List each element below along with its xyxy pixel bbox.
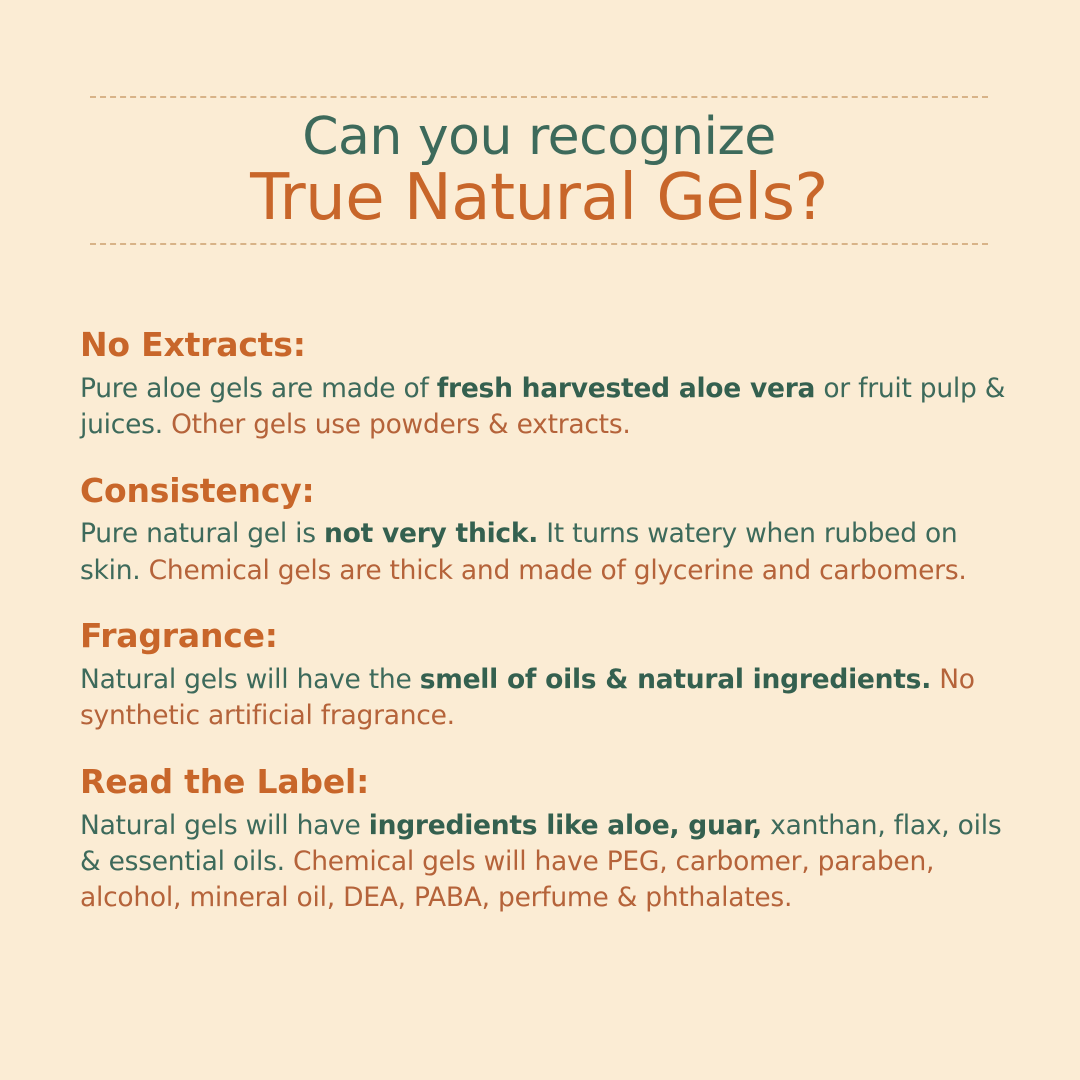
text-segment: Pure natural gel is [80,518,324,549]
text-segment: ingredients like aloe, guar, [369,810,762,841]
text-segment: not very thick. [324,518,538,549]
text-segment: Natural gels will have [80,810,369,841]
page-title: Can you recognize True Natural Gels? [90,98,988,243]
section-body-read-the-label: Natural gels will have ingredients like … [80,808,1010,917]
text-segment: Other gels use powders & extracts. [171,409,631,440]
header: Can you recognize True Natural Gels? [90,96,988,245]
section-heading-consistency: Consistency: [80,472,1010,511]
text-segment: smell of oils & natural ingredients. [420,664,931,695]
section-read-the-label: Read the Label: Natural gels will have i… [80,763,1010,917]
section-body-fragrance: Natural gels will have the smell of oils… [80,662,1010,735]
title-line-1: Can you recognize [90,110,988,166]
section-heading-fragrance: Fragrance: [80,617,1010,656]
section-body-consistency: Pure natural gel is not very thick. It t… [80,516,1010,589]
dashed-rule-bottom [90,243,988,245]
infographic-page: Can you recognize True Natural Gels? No … [0,0,1080,1080]
section-body-no-extracts: Pure aloe gels are made of fresh harvest… [80,371,1010,444]
text-segment [931,664,939,695]
text-segment: Chemical gels are thick and made of glyc… [149,555,967,586]
section-heading-read-the-label: Read the Label: [80,763,1010,802]
section-no-extracts: No Extracts: Pure aloe gels are made of … [80,326,1010,444]
sections-list: No Extracts: Pure aloe gels are made of … [80,326,1010,916]
text-segment: Pure aloe gels are made of [80,373,437,404]
title-line-2: True Natural Gels? [90,164,988,233]
section-consistency: Consistency: Pure natural gel is not ver… [80,472,1010,590]
section-fragrance: Fragrance: Natural gels will have the sm… [80,617,1010,735]
text-segment: fresh harvested aloe vera [437,373,815,404]
section-heading-no-extracts: No Extracts: [80,326,1010,365]
text-segment: Natural gels will have the [80,664,420,695]
